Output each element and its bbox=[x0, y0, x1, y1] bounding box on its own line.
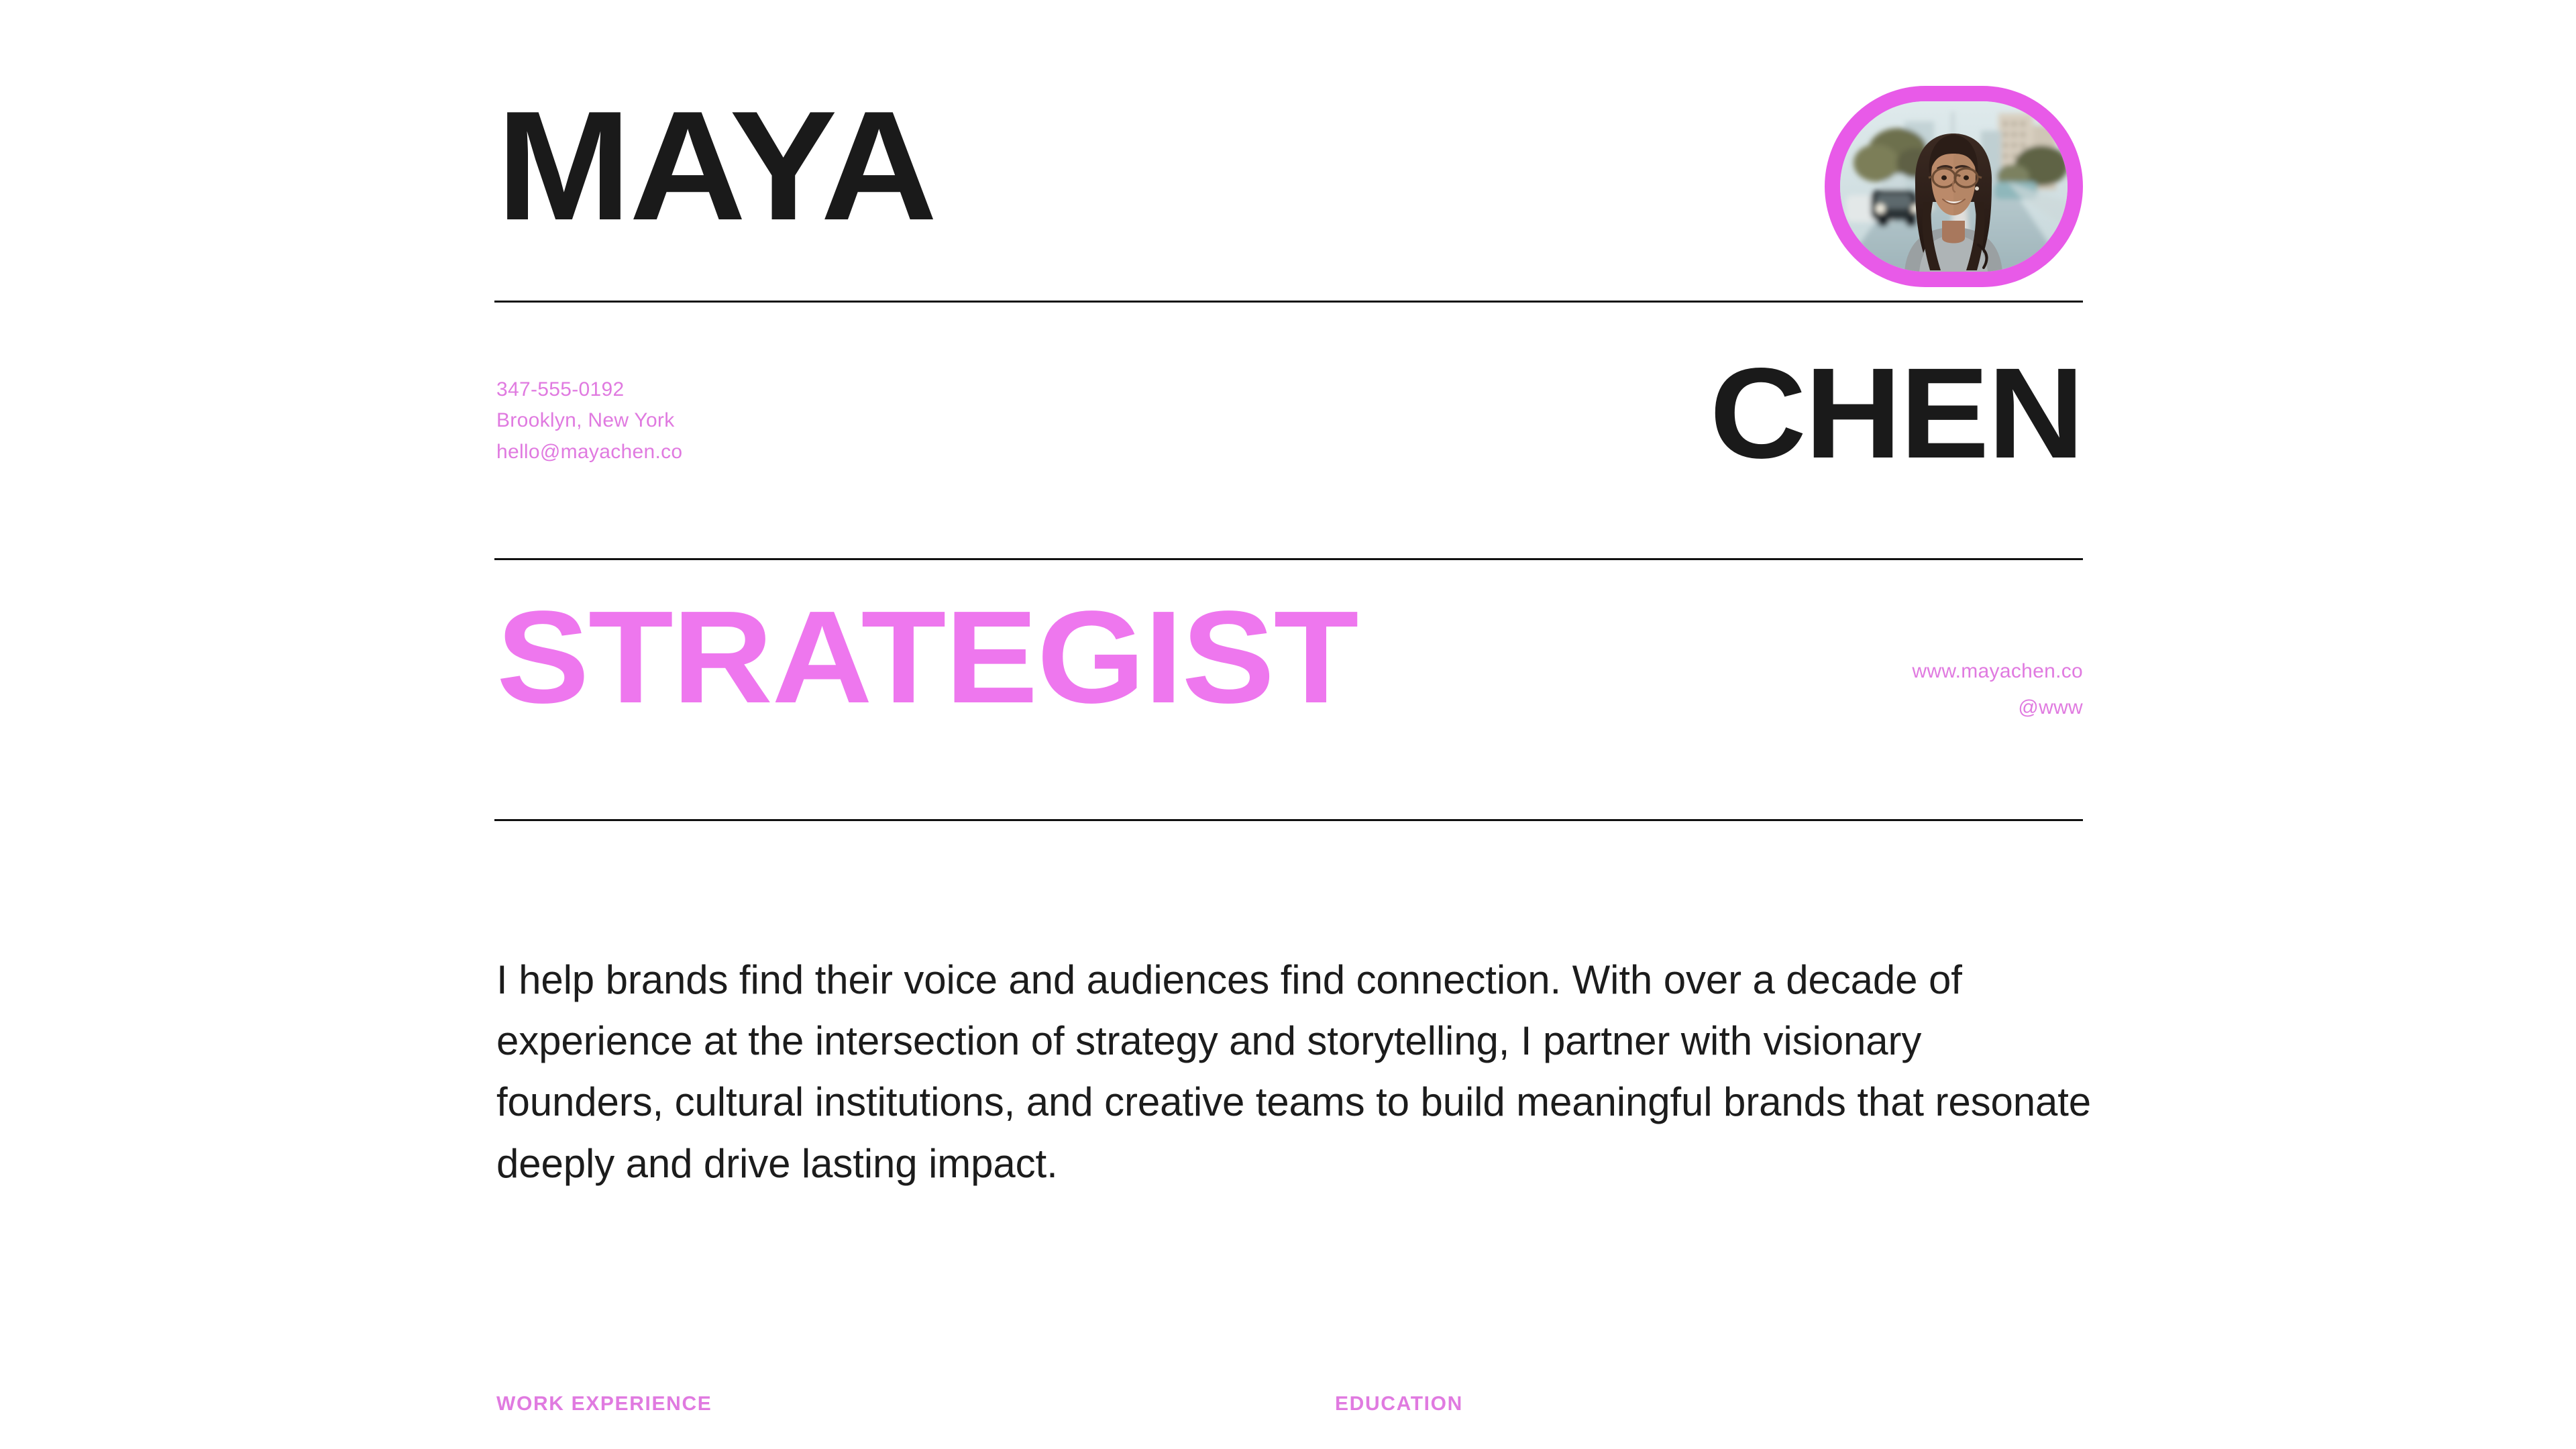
role-title-heading: STRATEGIST bbox=[496, 592, 1358, 723]
portrait-photo-image bbox=[1840, 101, 2068, 272]
links-block: www.mayachen.co @www bbox=[1912, 661, 2083, 719]
bio-paragraph: I help brands find their voice and audie… bbox=[496, 949, 2093, 1194]
divider-rule-2 bbox=[494, 558, 2083, 560]
contact-block: 347-555-0192 Brooklyn, New York hello@ma… bbox=[496, 379, 682, 463]
contact-email[interactable]: hello@mayachen.co bbox=[496, 441, 682, 463]
contact-location: Brooklyn, New York bbox=[496, 410, 682, 431]
portrait-clip bbox=[1840, 101, 2068, 272]
section-header-education: EDUCATION bbox=[1335, 1393, 1463, 1415]
resume-page: MAYA bbox=[0, 0, 2576, 1449]
divider-rule-1 bbox=[494, 301, 2083, 303]
first-name-heading: MAYA bbox=[496, 89, 936, 244]
divider-rule-3 bbox=[494, 819, 2083, 821]
last-name-heading: CHEN bbox=[1710, 349, 2083, 478]
section-header-work-experience: WORK EXPERIENCE bbox=[496, 1393, 712, 1415]
website-link[interactable]: www.mayachen.co bbox=[1912, 661, 2083, 682]
contact-phone[interactable]: 347-555-0192 bbox=[496, 379, 682, 400]
social-handle-link[interactable]: @www bbox=[2018, 697, 2083, 718]
portrait-frame bbox=[1825, 86, 2083, 287]
